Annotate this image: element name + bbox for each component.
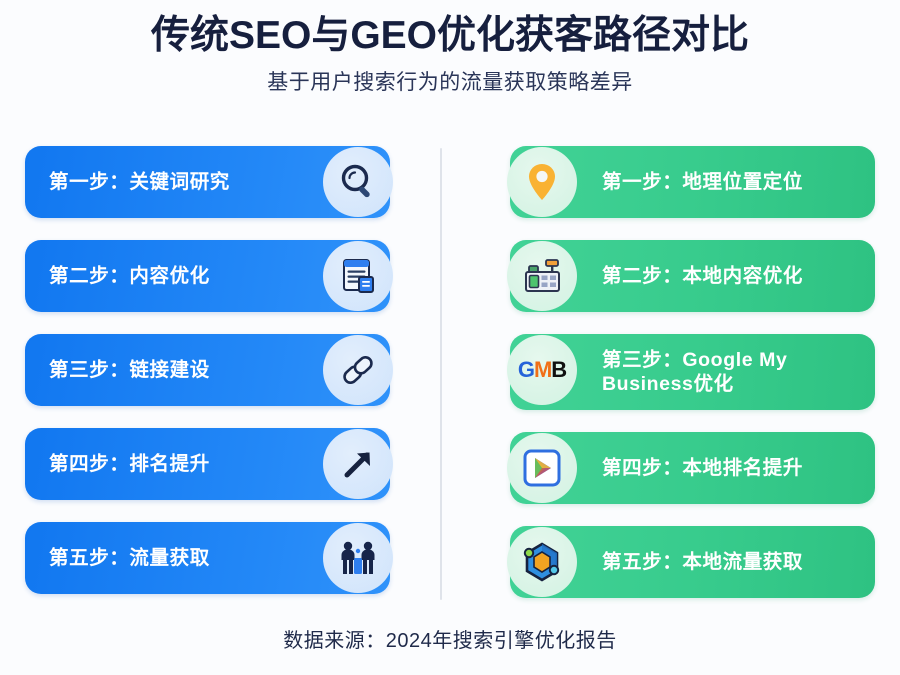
- geo-step-1-label: 第一步：地理位置定位: [602, 170, 803, 194]
- arrow-up-right-icon: [336, 442, 380, 486]
- geo-step-4-card[interactable]: 第四步：本地排名提升: [510, 432, 875, 504]
- seo-step-2-label: 第二步：内容优化: [49, 264, 210, 288]
- people-traffic-icon: [336, 536, 380, 580]
- geo-step-2-card[interactable]: 第二步：本地内容优化: [510, 240, 875, 312]
- footer-source: 数据来源：2024年搜索引擎优化报告: [0, 624, 900, 653]
- geo-step-3-card[interactable]: GMB 第三步：Google My Business优化: [510, 334, 875, 410]
- magnifier-icon: [336, 160, 380, 204]
- geo-step-4-label: 第四步：本地排名提升: [602, 456, 803, 480]
- seo-step-3-label: 第三步：链接建设: [49, 358, 210, 382]
- geo-step-1-badge: [507, 147, 577, 217]
- right-column-geo: 第一步：地理位置定位: [510, 146, 875, 598]
- seo-step-4-label: 第四步：排名提升: [49, 452, 210, 476]
- geo-step-3-label: 第三步：Google My Business优化: [602, 348, 857, 397]
- document-icon: [336, 254, 380, 298]
- page-subtitle: 基于用户搜索行为的流量获取策略差异: [0, 70, 900, 95]
- map-pin-icon: [520, 160, 564, 204]
- hexagon-node-icon: [520, 540, 564, 584]
- seo-step-1-label: 第一步：关键词研究: [49, 170, 230, 194]
- page-title: 传统SEO与GEO优化获客路径对比: [0, 14, 900, 58]
- seo-step-5-card[interactable]: 第五步：流量获取: [25, 522, 390, 594]
- left-column-seo: 第一步：关键词研究 第二步：内容优化: [25, 146, 390, 594]
- header: 传统SEO与GEO优化获客路径对比 基于用户搜索行为的流量获取策略差异: [0, 0, 900, 95]
- gmb-logo-icon: GMB: [518, 359, 566, 381]
- geo-step-3-badge: GMB: [507, 335, 577, 405]
- gmb-letter-g: G: [518, 357, 534, 382]
- seo-step-4-badge: [323, 429, 393, 499]
- seo-step-3-badge: [323, 335, 393, 405]
- seo-step-4-card[interactable]: 第四步：排名提升: [25, 428, 390, 500]
- seo-step-2-card[interactable]: 第二步：内容优化: [25, 240, 390, 312]
- seo-step-1-card[interactable]: 第一步：关键词研究: [25, 146, 390, 218]
- geo-step-2-label: 第二步：本地内容优化: [602, 264, 803, 288]
- seo-step-5-badge: [323, 523, 393, 593]
- geo-step-5-label: 第五步：本地流量获取: [602, 550, 803, 574]
- geo-step-5-card[interactable]: 第五步：本地流量获取: [510, 526, 875, 598]
- geo-step-2-badge: [507, 241, 577, 311]
- storefront-register-icon: [520, 254, 564, 298]
- gmb-letter-b: B: [551, 357, 566, 382]
- chain-link-icon: [336, 348, 380, 392]
- column-divider: [440, 148, 442, 600]
- geo-step-4-badge: [507, 433, 577, 503]
- play-store-icon: [520, 446, 564, 490]
- seo-step-5-label: 第五步：流量获取: [49, 546, 210, 570]
- comparison-columns: 第一步：关键词研究 第二步：内容优化: [0, 146, 900, 602]
- seo-step-2-badge: [323, 241, 393, 311]
- geo-step-1-card[interactable]: 第一步：地理位置定位: [510, 146, 875, 218]
- infographic-page: 传统SEO与GEO优化获客路径对比 基于用户搜索行为的流量获取策略差异 第一步：…: [0, 0, 900, 675]
- gmb-letter-m: M: [534, 357, 551, 382]
- seo-step-3-card[interactable]: 第三步：链接建设: [25, 334, 390, 406]
- geo-step-5-badge: [507, 527, 577, 597]
- seo-step-1-badge: [323, 147, 393, 217]
